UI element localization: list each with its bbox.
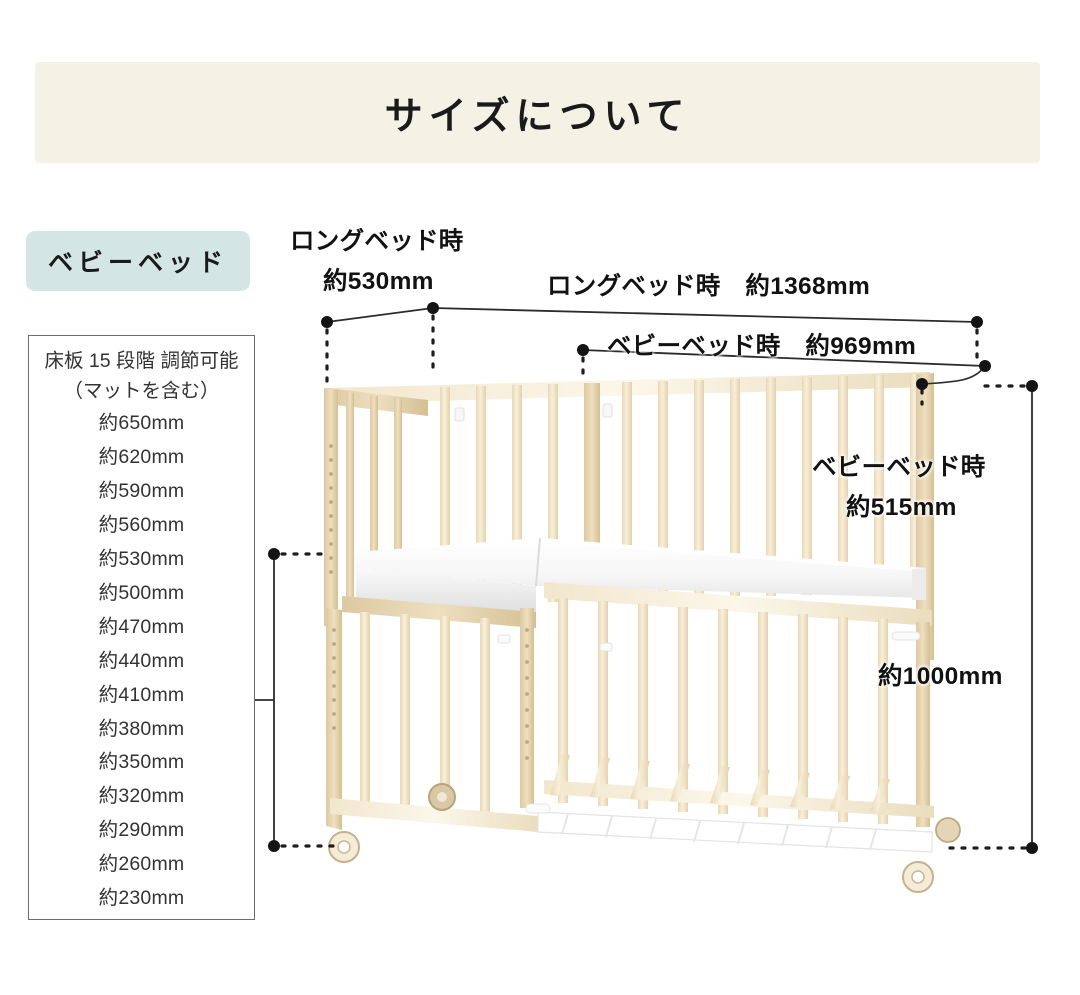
category-badge: ベビーベッド bbox=[26, 231, 250, 291]
crib-drawing bbox=[300, 360, 1000, 920]
height-value: 約560mm bbox=[99, 509, 185, 543]
height-value: 約230mm bbox=[99, 882, 185, 916]
long-bed-length-label: ロングベッド時 約1368mm bbox=[547, 267, 870, 302]
long-bed-width-value: 約530mm bbox=[323, 262, 434, 297]
section-header-banner: サイズについて bbox=[35, 62, 1040, 163]
total-height-label: 約1000mm bbox=[878, 657, 1003, 692]
height-value: 約290mm bbox=[99, 814, 185, 848]
height-value: 約410mm bbox=[99, 679, 185, 713]
height-value: 約500mm bbox=[99, 577, 185, 611]
height-value: 約260mm bbox=[99, 848, 185, 882]
height-value: 約650mm bbox=[99, 407, 185, 441]
height-value: 約530mm bbox=[99, 543, 185, 577]
size-infographic: サイズについて ベビーベッド 床板 15 段階 調節可能 （マットを含む） 約6… bbox=[0, 0, 1080, 995]
baby-bed-depth-title: ベビーベッド時 bbox=[812, 448, 986, 483]
height-value: 約350mm bbox=[99, 746, 185, 780]
height-value: 約590mm bbox=[99, 475, 185, 509]
heights-box-title: 床板 15 段階 調節可能 bbox=[45, 347, 239, 377]
page-title: サイズについて bbox=[385, 85, 691, 140]
floorboard-heights-box: 床板 15 段階 調節可能 （マットを含む） 約650mm 約620mm 約59… bbox=[28, 335, 255, 920]
category-badge-label: ベビーベッド bbox=[48, 243, 228, 279]
height-value: 約440mm bbox=[99, 645, 185, 679]
height-value: 約380mm bbox=[99, 713, 185, 747]
baby-bed-depth-value: 約515mm bbox=[846, 488, 957, 523]
baby-bed-length-label: ベビーベッド時 約969mm bbox=[607, 327, 916, 362]
height-value: 約320mm bbox=[99, 780, 185, 814]
heights-box-subtitle: （マットを含む） bbox=[63, 377, 219, 407]
long-bed-width-title: ロングベッド時 bbox=[290, 222, 464, 257]
height-value: 約470mm bbox=[99, 611, 185, 645]
height-value: 約620mm bbox=[99, 441, 185, 475]
crib-illustration bbox=[300, 360, 1000, 920]
